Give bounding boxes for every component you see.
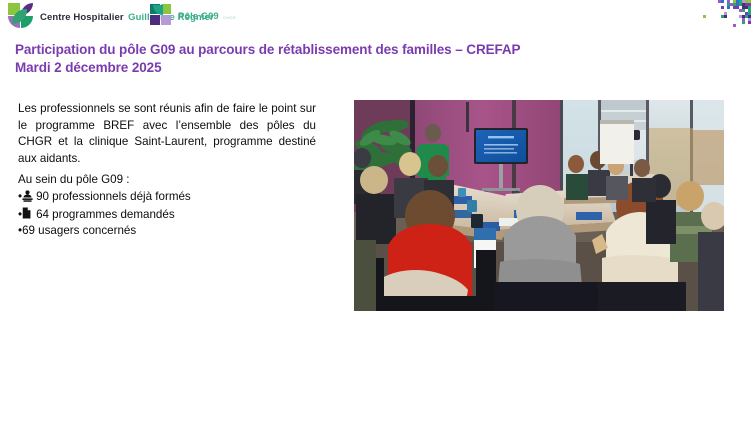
list-item: • 90 professionnels déjà formés [18, 188, 318, 205]
mosaic-corner-decoration [694, 0, 752, 30]
page-title-line2: Mardi 2 décembre 2025 [15, 59, 715, 77]
pole-tile-bottom-right [161, 15, 171, 25]
list-item: • 64 programmes demandés [18, 206, 318, 223]
chgr-logo-mark [8, 3, 33, 28]
pole-g09-logo-line2: CHGR [223, 15, 236, 20]
list-item: • 69 usagers concernés [18, 223, 318, 239]
page-title: Participation du pôle G09 au parcours de… [15, 41, 715, 77]
chgr-logo-line1: Centre Hospitalier [40, 12, 124, 23]
pole-g09-logo-mark [150, 4, 172, 26]
intro-paragraph: Les professionnels se sont réunis afin d… [18, 101, 316, 167]
person-trained-icon [22, 190, 33, 202]
pole-g09-logo-text: Pôle G09 CHGR [178, 7, 236, 23]
page-title-line1: Participation du pôle G09 au parcours de… [15, 42, 520, 57]
list-item-text: 64 programmes demandés [36, 207, 175, 223]
pole-g09-logo-line1: Pôle G09 [178, 11, 219, 22]
meeting-room-photo [354, 100, 724, 311]
list-item-text: 90 professionnels déjà formés [36, 189, 191, 205]
pole-tile-bottom-left [150, 15, 160, 25]
stats-list-lead: Au sein du pôle G09 : [18, 172, 318, 188]
stats-list: Au sein du pôle G09 : • 90 professionnel… [18, 172, 318, 240]
pole-g09-logo: Pôle G09 CHGR [150, 4, 236, 26]
list-item-text: 69 usagers concernés [22, 223, 136, 239]
page-header: Centre Hospitalier Guillaume Régnier Pôl… [0, 0, 752, 36]
document-icon [22, 207, 33, 219]
